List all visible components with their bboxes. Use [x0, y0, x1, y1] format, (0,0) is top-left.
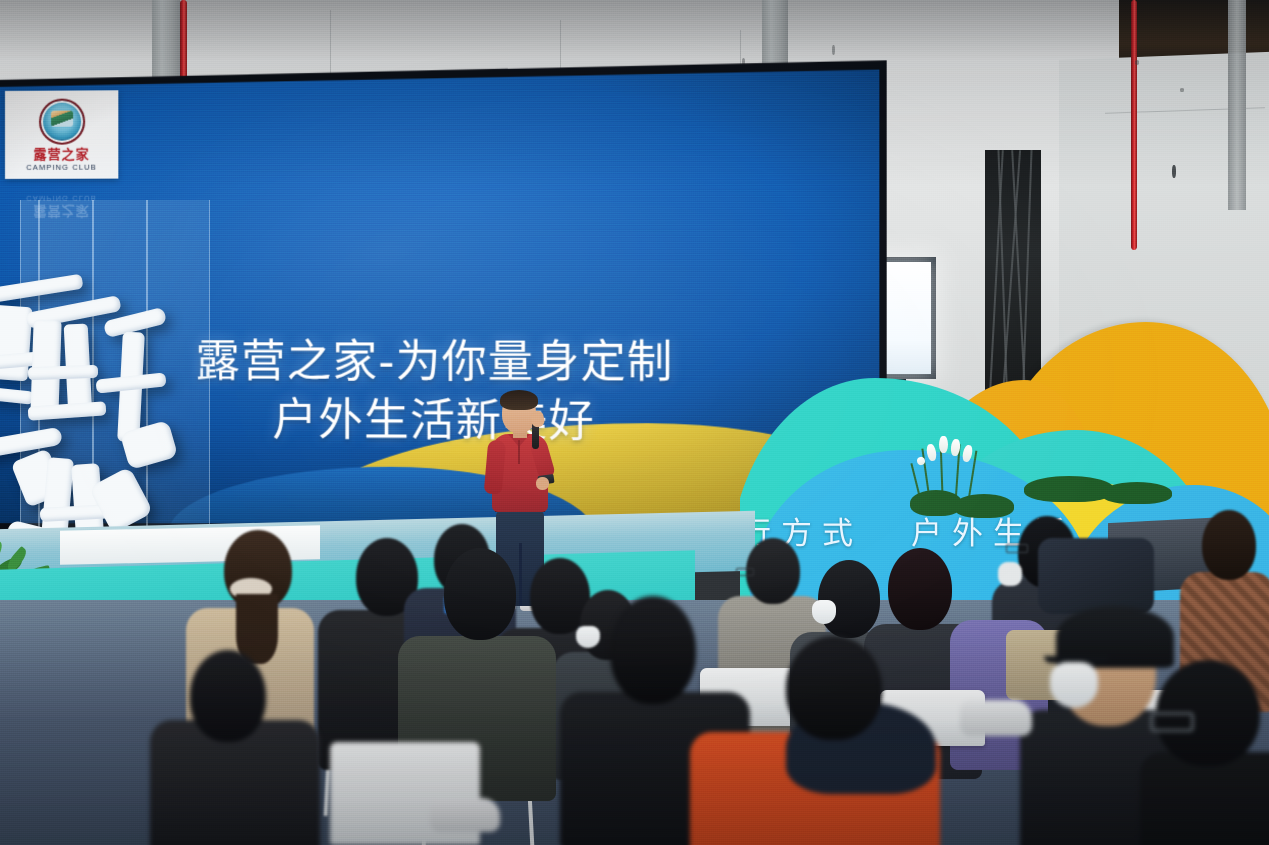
- wall-scuff: [1180, 88, 1184, 92]
- wall-crack: [1172, 165, 1176, 178]
- calligraphy-sculpture: [0, 258, 220, 568]
- person-head: [888, 548, 952, 630]
- face-mask: [998, 562, 1022, 586]
- event-photo-scene: 露营之家 CAMPING CLUB 露营之家 CAMPING CLUB 露营之家…: [0, 0, 1269, 845]
- wall-scuff: [1135, 60, 1139, 65]
- audience-member: [690, 636, 940, 845]
- wall-scuff: [832, 45, 835, 55]
- red-pipe: [1131, 0, 1137, 250]
- backpack: [1038, 538, 1154, 614]
- glasses-icon: [1006, 544, 1028, 553]
- audience-member: [150, 650, 320, 845]
- concrete-column: [1228, 0, 1246, 210]
- pampas-flower-decor: [910, 428, 1020, 518]
- audience-member: [1140, 660, 1269, 845]
- presenter-left-hand: [536, 477, 549, 490]
- presenter-hair: [500, 390, 538, 410]
- face-mask: [1050, 662, 1098, 708]
- person-head: [610, 596, 696, 704]
- person-head: [1202, 510, 1256, 580]
- presenter-placket: [518, 440, 520, 464]
- person-head: [190, 650, 266, 742]
- foliage: [1102, 482, 1172, 504]
- glasses-icon: [736, 568, 754, 576]
- glasses-icon: [1150, 712, 1194, 732]
- face-mask: [812, 600, 836, 624]
- sneaker: [960, 700, 1032, 736]
- person-head: [444, 548, 516, 640]
- person-head: [786, 636, 882, 740]
- sneaker: [430, 798, 500, 832]
- wall-top-shadow: [0, 0, 1269, 60]
- foliage: [1024, 476, 1114, 502]
